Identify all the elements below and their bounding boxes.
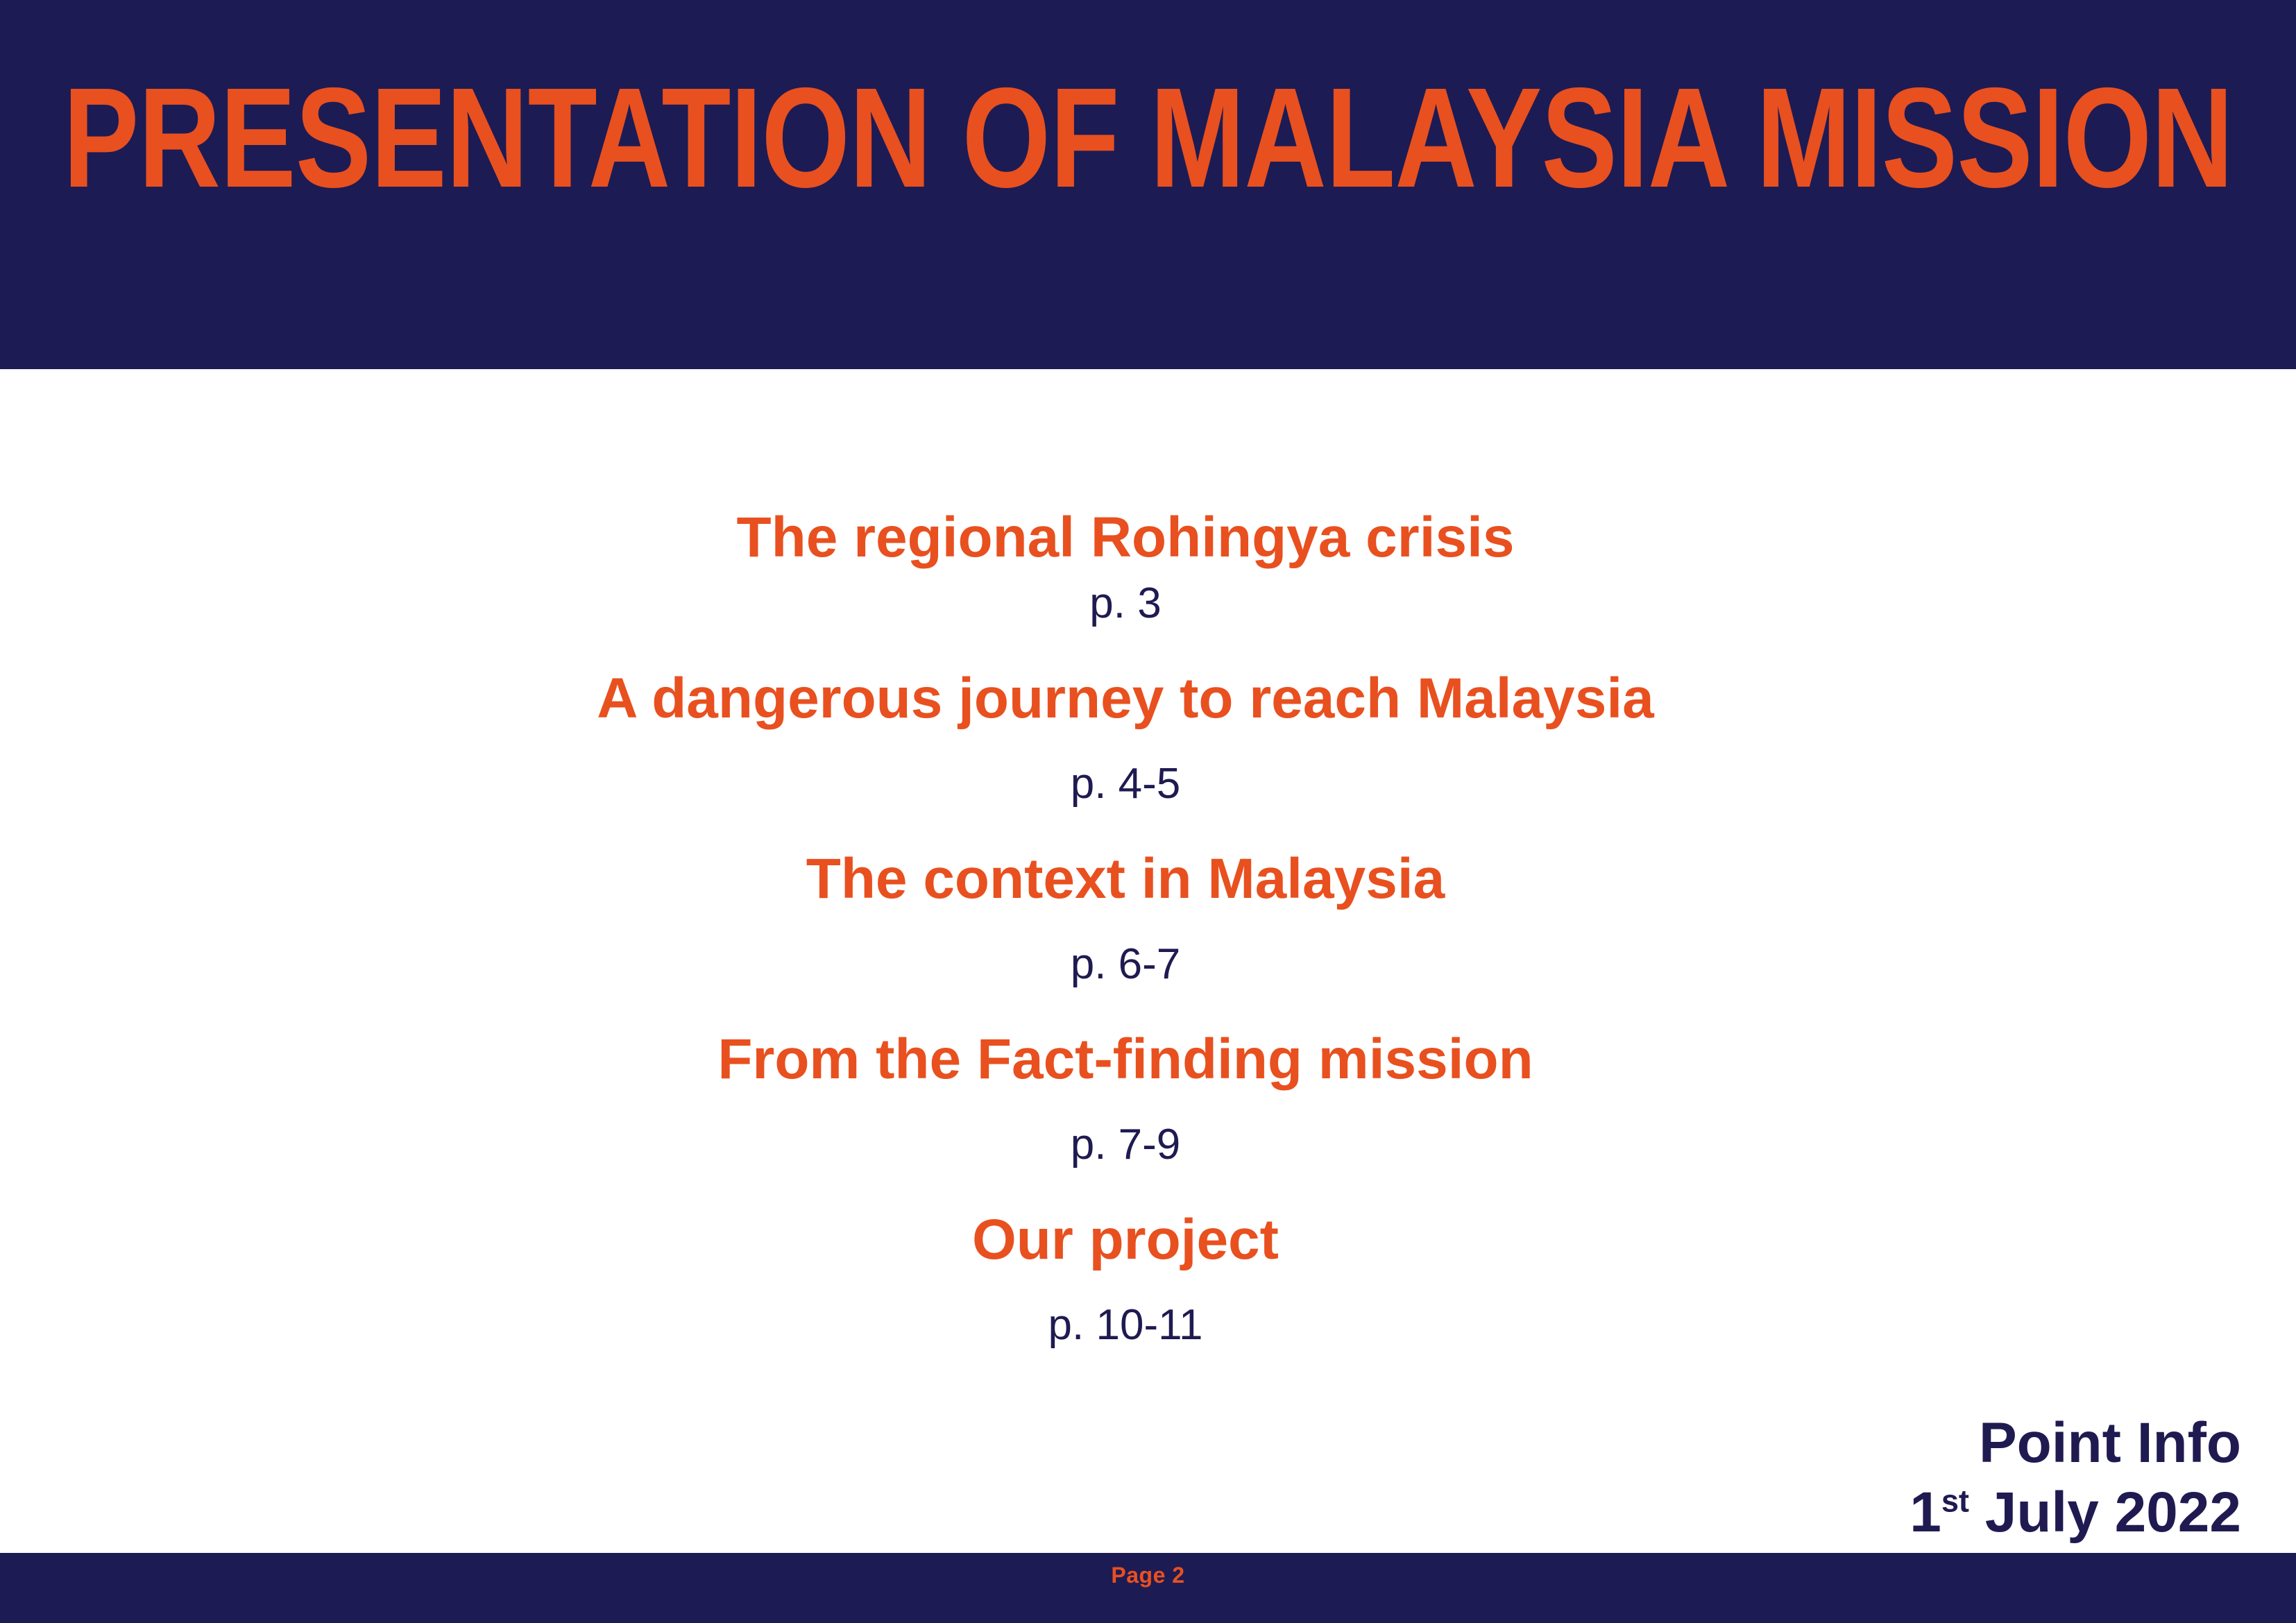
header-band: PRESENTATION OF MALAYSIA MISSION xyxy=(0,0,2296,369)
toc-entry-4[interactable]: From the Fact-finding mission p. 7-9 xyxy=(397,1030,1854,1167)
toc-entry-1[interactable]: The regional Rohingya crisis p. 3 xyxy=(397,508,1854,626)
spacer xyxy=(397,910,1854,942)
toc-heading-5: Our project xyxy=(397,1210,1854,1271)
toc-page-ref-2: p. 4-5 xyxy=(397,761,1854,806)
footer-page-number: Page 2 xyxy=(0,1563,2296,1588)
meta-date-day: 1 xyxy=(1910,1481,1941,1544)
presentation-meta: Point Info 1st July 2022 xyxy=(1910,1409,2241,1547)
spacer xyxy=(397,1167,1854,1210)
spacer xyxy=(397,729,1854,761)
toc-page-ref-4: p. 7-9 xyxy=(397,1122,1854,1167)
meta-label: Point Info xyxy=(1910,1409,2241,1478)
spacer xyxy=(397,1090,1854,1122)
spacer xyxy=(397,626,1854,669)
spacer xyxy=(397,1271,1854,1302)
toc-entry-3[interactable]: The context in Malaysia p. 6-7 xyxy=(397,849,1854,987)
spacer xyxy=(397,806,1854,849)
toc-heading-2: A dangerous journey to reach Malaysia xyxy=(397,669,1854,729)
footer-bar: Page 2 xyxy=(0,1553,2296,1623)
meta-date: 1st July 2022 xyxy=(1910,1478,2241,1547)
toc-heading-1: The regional Rohingya crisis xyxy=(397,508,1854,568)
meta-date-ordinal: st xyxy=(1941,1484,1969,1519)
toc-entry-5[interactable]: Our project p. 10-11 xyxy=(397,1210,1854,1348)
toc-page-ref-5: p. 10-11 xyxy=(397,1302,1854,1348)
table-of-contents: The regional Rohingya crisis p. 3 A dang… xyxy=(0,369,2296,1553)
page-title: PRESENTATION OF MALAYSIA MISSION xyxy=(230,0,2066,369)
toc-page-ref-1: p. 3 xyxy=(397,581,1854,626)
toc-entry-2[interactable]: A dangerous journey to reach Malaysia p.… xyxy=(397,669,1854,806)
spacer xyxy=(397,987,1854,1030)
toc-heading-4: From the Fact-finding mission xyxy=(397,1030,1854,1090)
meta-date-rest: July 2022 xyxy=(1969,1481,2241,1544)
toc-heading-3: The context in Malaysia xyxy=(397,849,1854,910)
toc-page-ref-3: p. 6-7 xyxy=(397,942,1854,987)
